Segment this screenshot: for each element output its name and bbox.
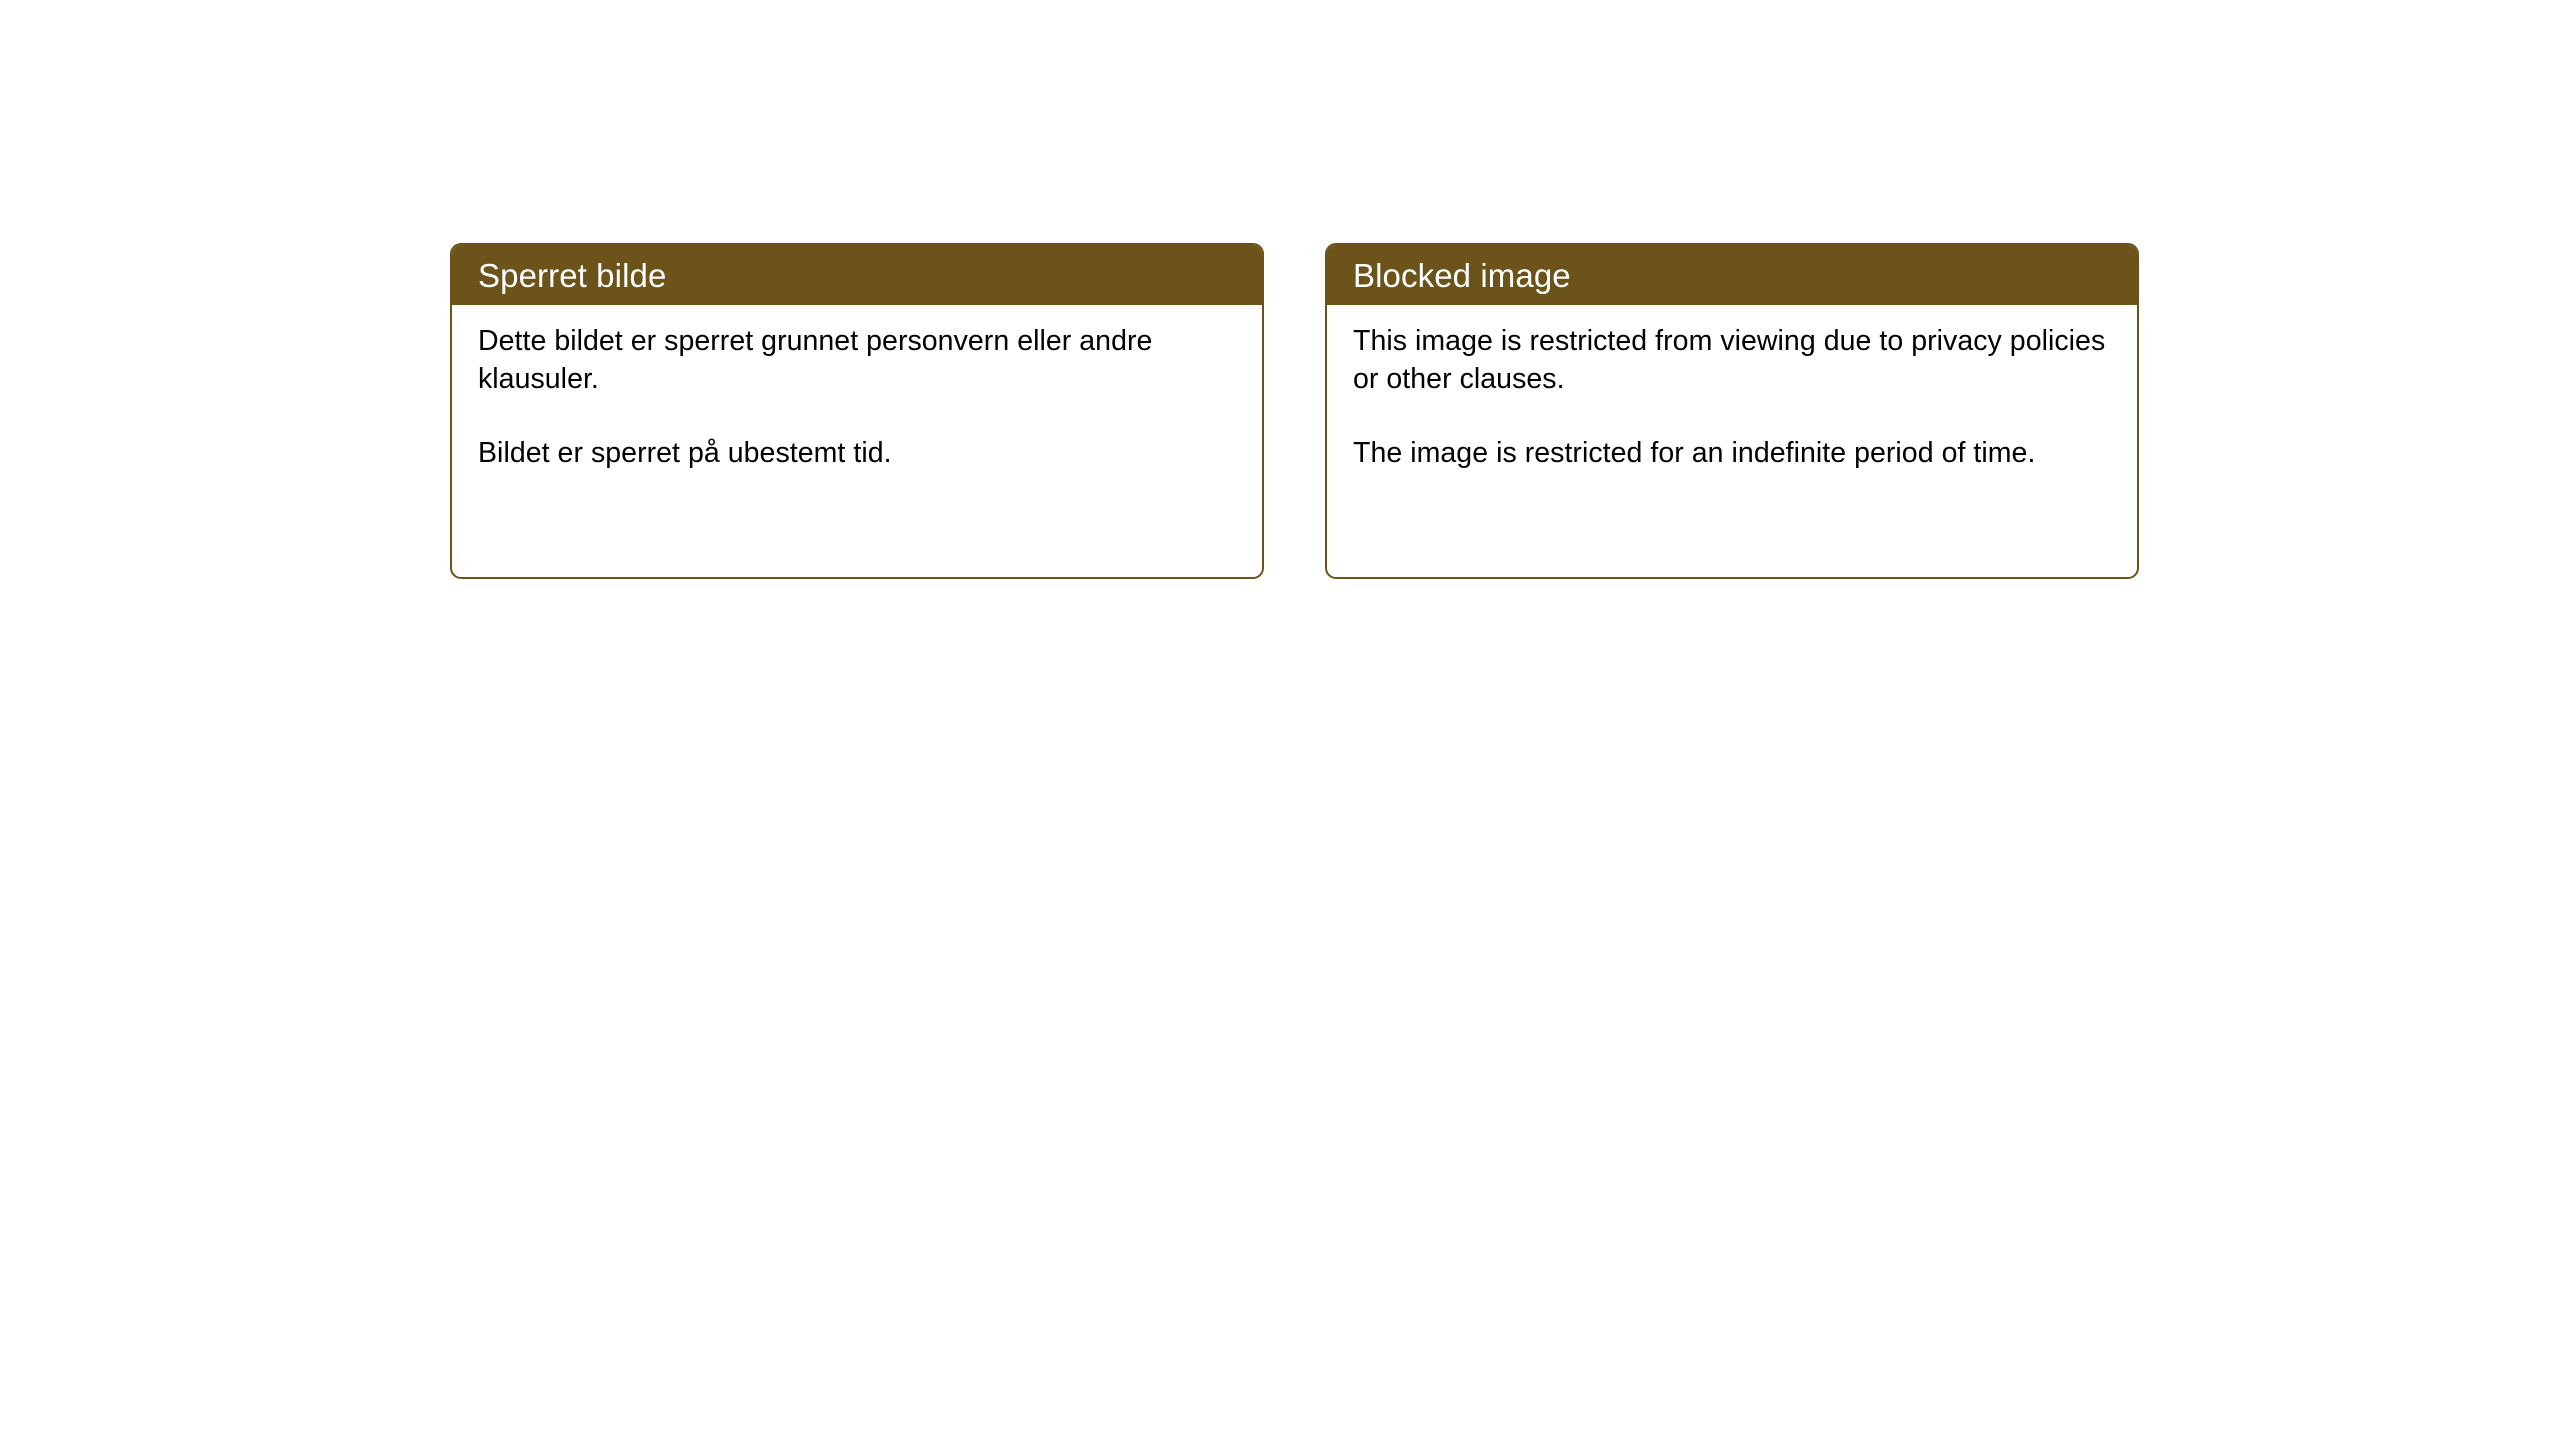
card-header-norwegian: Sperret bilde: [452, 245, 1262, 305]
card-paragraph-reason-english: This image is restricted from viewing du…: [1353, 323, 2111, 399]
card-body-norwegian: Dette bildet er sperret grunnet personve…: [452, 305, 1262, 499]
card-paragraph-duration-english: The image is restricted for an indefinit…: [1353, 435, 2111, 473]
card-body-english: This image is restricted from viewing du…: [1327, 305, 2137, 499]
page-canvas: Sperret bilde Dette bildet er sperret gr…: [0, 0, 2560, 1440]
card-paragraph-duration-norwegian: Bildet er sperret på ubestemt tid.: [478, 435, 1236, 473]
blocked-image-notice-card-english: Blocked image This image is restricted f…: [1325, 243, 2139, 579]
card-title-english: Blocked image: [1353, 259, 1571, 292]
card-title-norwegian: Sperret bilde: [478, 259, 666, 292]
card-header-english: Blocked image: [1327, 245, 2137, 305]
card-paragraph-reason-norwegian: Dette bildet er sperret grunnet personve…: [478, 323, 1236, 399]
blocked-image-notice-card-norwegian: Sperret bilde Dette bildet er sperret gr…: [450, 243, 1264, 579]
